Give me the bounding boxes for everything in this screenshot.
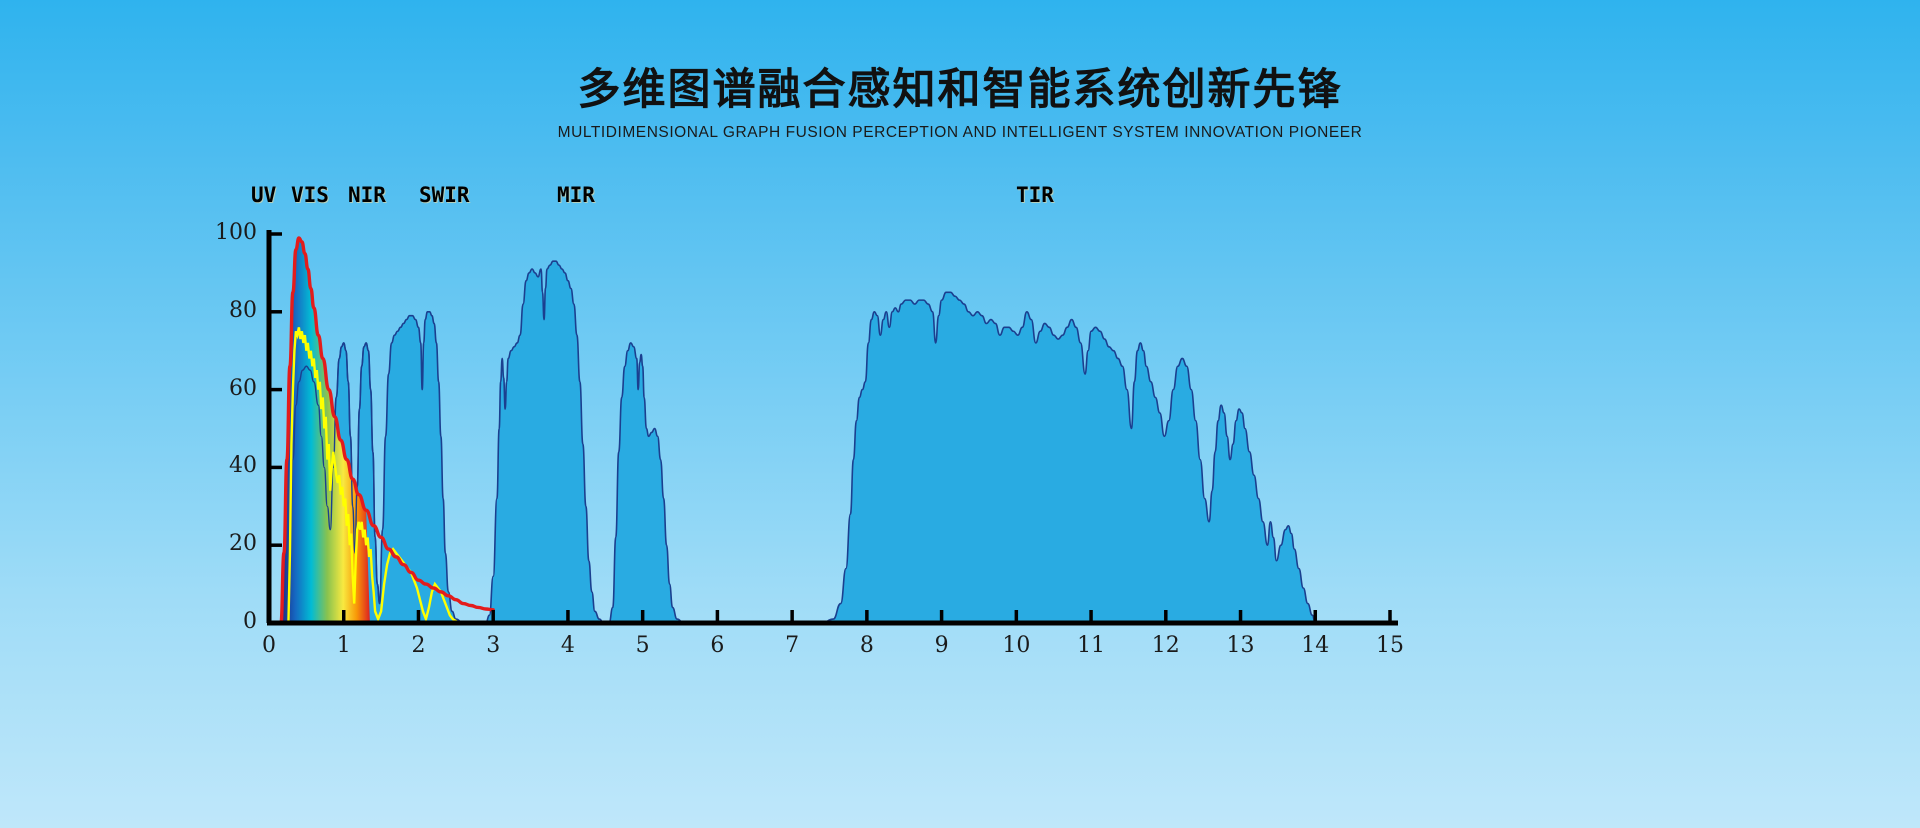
x-axis-tick-label: 4 <box>543 633 593 658</box>
y-axis-tick-label: 100 <box>197 220 257 245</box>
atmospheric-transmission-area <box>284 261 1315 623</box>
spectrum-chart <box>0 0 1920 828</box>
x-axis-tick-label: 13 <box>1216 633 1266 658</box>
x-axis-tick-label: 10 <box>991 633 1041 658</box>
x-axis-tick-label: 1 <box>319 633 369 658</box>
x-axis-tick-label: 8 <box>842 633 892 658</box>
x-axis-tick-label: 12 <box>1141 633 1191 658</box>
y-axis-tick-label: 80 <box>197 298 257 323</box>
x-axis-tick-label: 15 <box>1365 633 1415 658</box>
y-axis-tick-label: 20 <box>197 531 257 556</box>
x-axis-tick-label: 14 <box>1290 633 1340 658</box>
x-axis-tick-label: 11 <box>1066 633 1116 658</box>
x-axis-tick-label: 2 <box>393 633 443 658</box>
x-axis-tick-label: 5 <box>618 633 668 658</box>
x-axis-tick-label: 7 <box>767 633 817 658</box>
x-axis-tick-label: 9 <box>917 633 967 658</box>
y-axis-tick-label: 60 <box>197 376 257 401</box>
y-axis-tick-label: 40 <box>197 453 257 478</box>
y-axis-tick-label: 0 <box>197 609 257 634</box>
banner-root: 多维图谱融合感知和智能系统创新先锋 MULTIDIMENSIONAL GRAPH… <box>0 0 1920 828</box>
x-axis-tick-label: 3 <box>468 633 518 658</box>
x-axis-tick-label: 6 <box>692 633 742 658</box>
x-axis-tick-label: 0 <box>244 633 294 658</box>
